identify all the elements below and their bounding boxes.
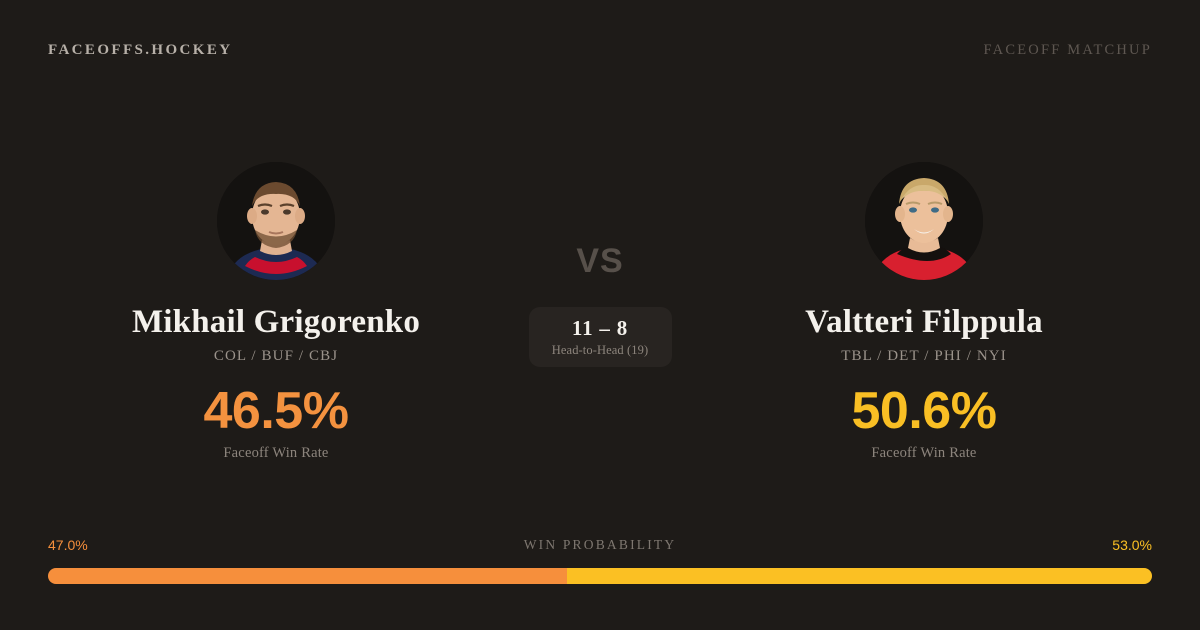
faceoff-win-rate-label-left: Faceoff Win Rate [36, 445, 516, 462]
player-name-left: Mikhail Grigorenko [36, 304, 516, 340]
win-probability-title: WIN PROBABILITY [48, 537, 1152, 553]
win-probability-bar-left-segment [48, 568, 567, 584]
player-teams-right: TBL / DET / PHI / NYI [684, 348, 1164, 365]
win-probability-bar [48, 568, 1152, 584]
faceoff-win-rate-label-right: Faceoff Win Rate [684, 445, 1164, 462]
head-to-head-label: Head-to-Head (19) [552, 343, 648, 358]
header: FACEOFFS.HOCKEY FACEOFF MATCHUP [0, 0, 1200, 100]
header-tagline: FACEOFF MATCHUP [983, 42, 1152, 59]
matchup-stage: Mikhail Grigorenko COL / BUF / CBJ 46.5%… [0, 100, 1200, 500]
head-to-head-score: 11 – 8 [572, 317, 628, 340]
player-headshot-avatar-icon [217, 162, 335, 280]
faceoff-win-rate-right: 50.6% [684, 383, 1164, 439]
player-card-left: Mikhail Grigorenko COL / BUF / CBJ 46.5%… [36, 100, 516, 500]
faceoff-win-rate-left: 46.5% [36, 383, 516, 439]
player-name-right: Valtteri Filppula [684, 304, 1164, 340]
player-headshot-avatar-icon [865, 162, 983, 280]
win-probability-section: 47.0% WIN PROBABILITY 53.0% [48, 534, 1152, 594]
site-brand: FACEOFFS.HOCKEY [48, 42, 232, 59]
player-card-right: Valtteri Filppula TBL / DET / PHI / NYI … [684, 100, 1164, 500]
win-probability-bar-right-segment [567, 568, 1152, 584]
win-probability-labels: 47.0% WIN PROBABILITY 53.0% [48, 534, 1152, 556]
avatar-left [217, 162, 335, 280]
head-to-head-badge: 11 – 8 Head-to-Head (19) [529, 307, 672, 367]
avatar-right [865, 162, 983, 280]
player-teams-left: COL / BUF / CBJ [36, 348, 516, 365]
faceoff-matchup-card: FACEOFFS.HOCKEY FACEOFF MATCHUP [0, 0, 1200, 630]
